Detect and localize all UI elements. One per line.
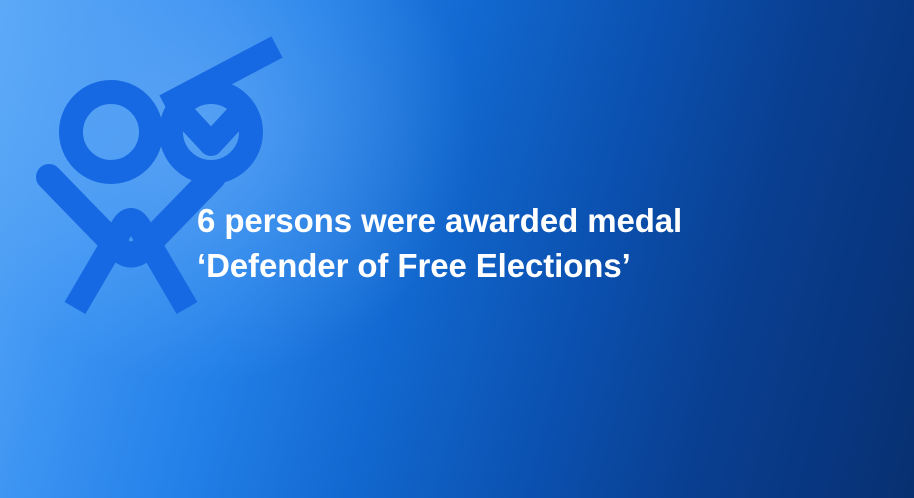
headline-line-1: 6 persons were awarded medal xyxy=(197,198,877,243)
diagonal-bar-icon xyxy=(165,47,277,106)
left-eye-ring-icon xyxy=(71,92,151,172)
right-eye-ring-icon xyxy=(171,92,251,172)
headline-line-2: ‘Defender of Free Elections’ xyxy=(197,243,877,288)
headline: 6 persons were awarded medal ‘Defender o… xyxy=(197,198,877,288)
legs-shape-icon xyxy=(75,220,187,308)
checkmark-chevron-icon xyxy=(187,118,235,144)
arms-curve-icon xyxy=(49,177,213,255)
announcement-banner: 6 persons were awarded medal ‘Defender o… xyxy=(0,0,914,498)
